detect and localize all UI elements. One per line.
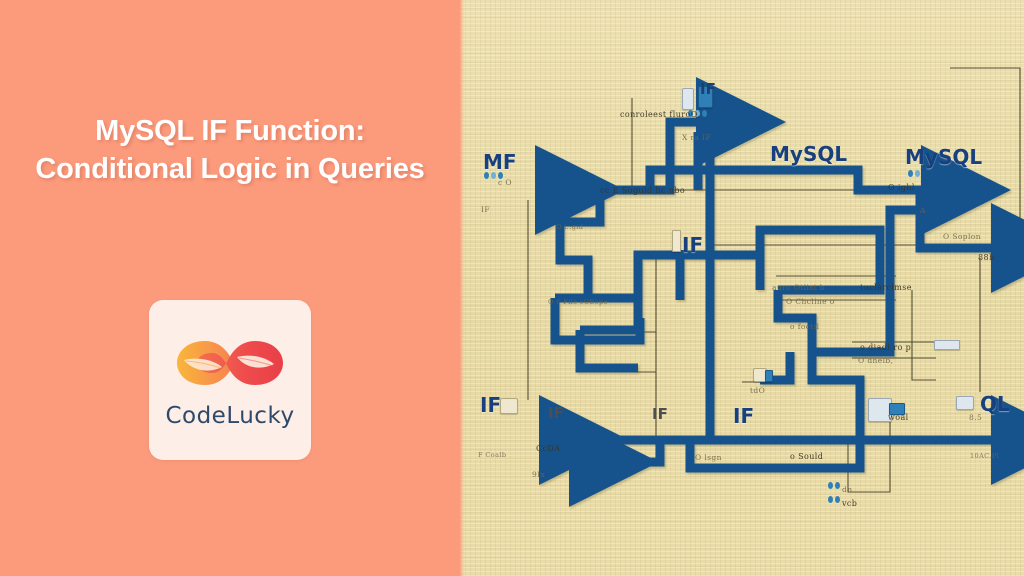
diagram-panel: IFMFMySQLMySQLIFIFIFIFIFQL conroleest fl… xyxy=(460,0,1024,576)
note-icon-bottom-left xyxy=(500,398,518,414)
tag-icon-mid-b xyxy=(765,370,773,382)
page-title: MySQL IF Function: Conditional Logic in … xyxy=(34,112,426,188)
dot-cluster-bottom-b xyxy=(828,496,840,503)
server-icon-flag xyxy=(889,403,905,415)
logo-wordmark: CodeLucky xyxy=(165,403,294,429)
chip-icon-top-a xyxy=(682,88,694,110)
logo-card: CodeLucky xyxy=(149,300,311,460)
dot-cluster-mf xyxy=(484,172,503,179)
left-panel: MySQL IF Function: Conditional Logic in … xyxy=(0,0,460,576)
db-icon-ql xyxy=(956,396,974,410)
dot-cluster-mysql-right xyxy=(908,170,920,177)
dot-cluster-top xyxy=(688,110,707,117)
flowchart-graphic xyxy=(460,0,1024,576)
bar-icon-right xyxy=(934,340,960,350)
infinity-leaf-logo-icon xyxy=(174,333,286,393)
chip-icon-top-b xyxy=(698,86,713,108)
dot-cluster-bottom-a xyxy=(828,482,840,489)
marker-icon-center-if xyxy=(672,230,681,252)
poster-canvas: MySQL IF Function: Conditional Logic in … xyxy=(0,0,1024,576)
